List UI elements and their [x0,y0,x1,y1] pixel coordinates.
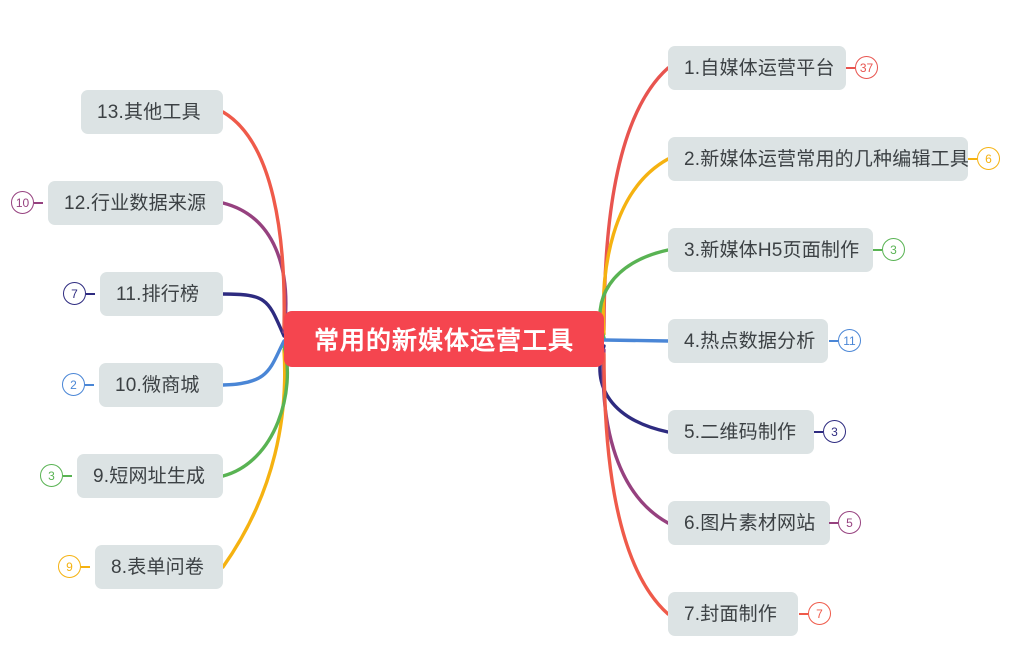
branch-7-label: 7.封面制作 [684,605,777,624]
branch-4-label: 4.热点数据分析 [684,332,815,351]
branch-10[interactable]: 10.微商城 [99,363,223,407]
branch-12[interactable]: 12.行业数据来源 [48,181,223,225]
edge-2 [603,159,668,334]
branch-9-badge-connector [63,475,72,477]
branch-3-badge-connector [873,249,882,251]
branch-13[interactable]: 13.其他工具 [81,90,223,134]
branch-10-label: 10.微商城 [115,376,200,395]
branch-1-count-badge[interactable]: 37 [855,56,878,79]
branch-6-label: 6.图片素材网站 [684,514,815,533]
edge-11 [223,294,284,336]
edge-4 [604,340,668,341]
edge-7 [604,354,668,614]
branch-5-label: 5.二维码制作 [684,423,796,442]
branch-6-badge-connector [829,522,838,524]
branch-2-badge-connector [968,158,977,160]
branch-8[interactable]: 8.表单问卷 [95,545,223,589]
branch-10-count-badge[interactable]: 2 [62,373,85,396]
branch-4-count-badge[interactable]: 11 [838,329,861,352]
branch-3-label: 3.新媒体H5页面制作 [684,241,859,260]
branch-5-badge-connector [814,431,823,433]
branch-2[interactable]: 2.新媒体运营常用的几种编辑工具 [668,137,968,181]
branch-3-count-badge[interactable]: 3 [882,238,905,261]
edge-13 [223,112,284,328]
branch-1-badge-connector [846,67,855,69]
branch-4-badge-connector [829,340,838,342]
edge-9 [223,346,287,476]
edge-5 [600,346,668,432]
branch-11-label: 11.排行榜 [116,285,199,304]
mindmap-canvas: 常用的新媒体运营工具 1.自媒体运营平台372.新媒体运营常用的几种编辑工具63… [0,0,1022,660]
branch-11-count-badge[interactable]: 7 [63,282,86,305]
branch-3[interactable]: 3.新媒体H5页面制作 [668,228,873,272]
branch-5[interactable]: 5.二维码制作 [668,410,814,454]
branch-9-count-badge[interactable]: 3 [40,464,63,487]
center-node[interactable]: 常用的新媒体运营工具 [284,311,604,367]
edge-3 [600,250,668,338]
branch-12-badge-connector [34,202,43,204]
branch-8-badge-connector [81,566,90,568]
branch-2-label: 2.新媒体运营常用的几种编辑工具 [684,150,969,169]
edge-6 [603,350,668,523]
edge-10 [223,341,284,385]
branch-7[interactable]: 7.封面制作 [668,592,798,636]
branch-7-count-badge[interactable]: 7 [808,602,831,625]
branch-1-label: 1.自媒体运营平台 [684,59,835,78]
branch-12-count-badge[interactable]: 10 [11,191,34,214]
branch-5-count-badge[interactable]: 3 [823,420,846,443]
edge-1 [604,68,668,330]
branch-2-count-badge[interactable]: 6 [977,147,1000,170]
branch-9-label: 9.短网址生成 [93,467,205,486]
branch-11-badge-connector [86,293,95,295]
branch-12-label: 12.行业数据来源 [64,194,206,213]
branch-10-badge-connector [85,384,94,386]
branch-1[interactable]: 1.自媒体运营平台 [668,46,846,90]
branch-6-count-badge[interactable]: 5 [838,511,861,534]
branch-8-count-badge[interactable]: 9 [58,555,81,578]
branch-4[interactable]: 4.热点数据分析 [668,319,828,363]
branch-9[interactable]: 9.短网址生成 [77,454,223,498]
edge-12 [223,203,286,332]
branch-13-label: 13.其他工具 [97,103,201,122]
branch-7-badge-connector [799,613,808,615]
branch-8-label: 8.表单问卷 [111,558,204,577]
branch-6[interactable]: 6.图片素材网站 [668,501,830,545]
edge-8 [223,350,285,567]
branch-11[interactable]: 11.排行榜 [100,272,223,316]
